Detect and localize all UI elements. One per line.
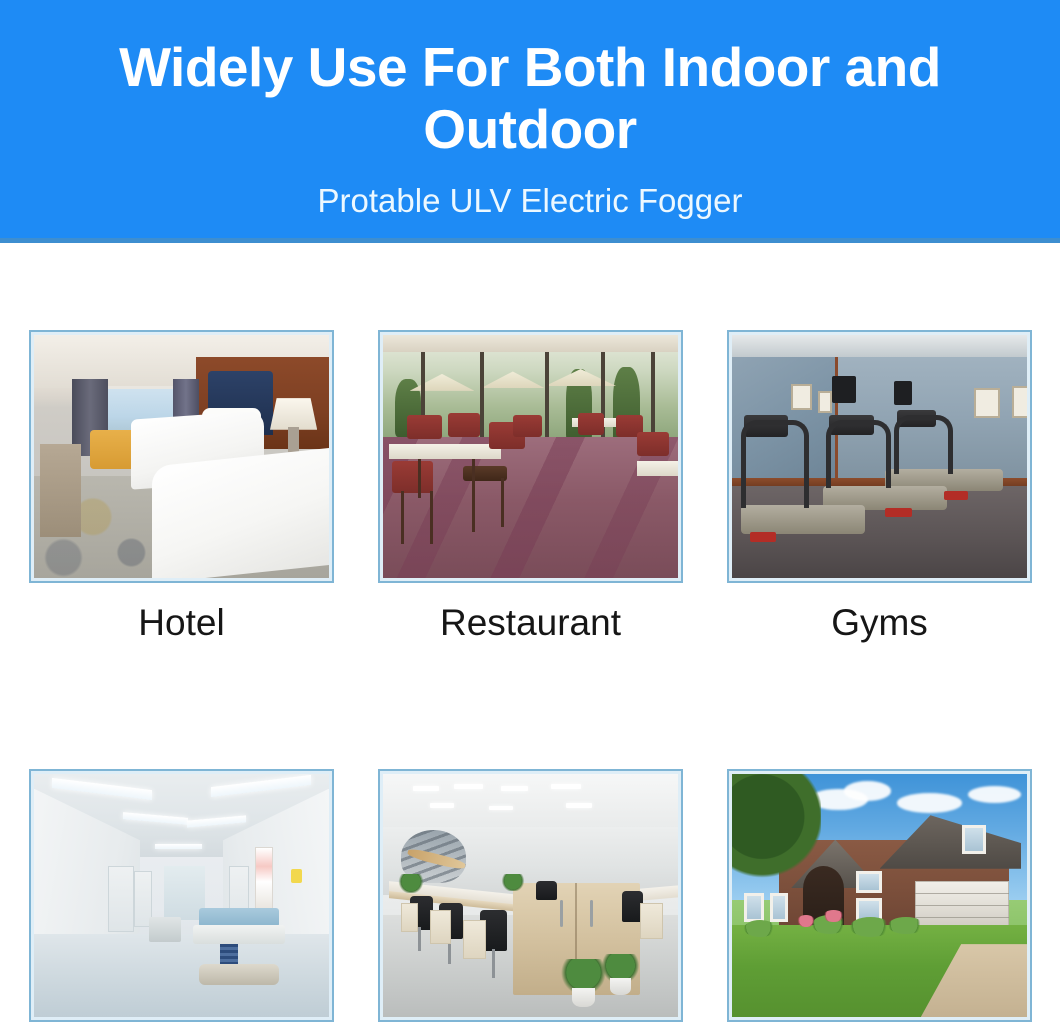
hospital-wall-poster	[255, 847, 273, 910]
office-chair-4	[536, 881, 557, 900]
gym-treadmill-arm-1	[741, 420, 809, 507]
garden-window-upper	[962, 825, 986, 854]
garden-flowers-2	[797, 915, 815, 927]
office-pedestal-2	[430, 910, 451, 944]
garden-shrub-4	[744, 920, 776, 937]
photo-frame-garden	[727, 769, 1032, 1022]
photo-frame-restaurant	[378, 330, 683, 583]
office-ceiling-light-1	[413, 786, 440, 791]
gym-brand-label-2	[885, 508, 912, 518]
garden-shrub-2	[850, 917, 891, 936]
office-ceiling-light-2	[454, 784, 484, 789]
garden-cloud-3	[897, 793, 962, 812]
office-cabinet-handle-2	[590, 900, 593, 927]
garden-cloud-2	[844, 781, 891, 800]
gym-ceiling	[732, 335, 1027, 357]
hospital-gurney-frame	[193, 925, 284, 944]
office-chair-post-1	[418, 927, 421, 951]
restaurant-chair-2	[448, 413, 480, 437]
hospital-gurney-base	[199, 964, 279, 986]
garden-tree	[732, 774, 821, 881]
restaurant-chair-4	[513, 415, 543, 437]
grid-item-gyms: Gyms	[727, 330, 1032, 645]
product-feature-page: Widely Use For Both Indoor and Outdoor P…	[0, 0, 1060, 1030]
gym-treadmill-deck-1	[741, 505, 865, 534]
office-plant-pot-1	[572, 988, 596, 1007]
hotel-lamp-shade	[270, 398, 317, 430]
hotel-lamp-base	[288, 427, 300, 451]
photo-garden-house	[732, 774, 1027, 1017]
office-ceiling-light-7	[566, 803, 593, 808]
office-chair-post-3	[492, 949, 495, 978]
office-ceiling-light-6	[489, 806, 513, 811]
restaurant-table-leg-1	[418, 459, 421, 498]
photo-office	[383, 774, 678, 1017]
restaurant-chair-1	[407, 415, 442, 439]
gym-picture-frame-3	[974, 388, 1001, 417]
gym-picture-frame-4	[1012, 386, 1027, 418]
office-pedestal-3	[463, 920, 487, 959]
hospital-floor	[34, 934, 329, 1017]
gym-tv-2	[894, 381, 912, 405]
garden-window-left-1	[744, 893, 765, 922]
gym-picture-frame-2	[818, 391, 833, 413]
restaurant-chair-leg-4	[501, 478, 504, 527]
office-ceiling-light-5	[430, 803, 454, 808]
restaurant-chair-leg-1	[401, 491, 404, 544]
office-plant-desk-1	[398, 874, 425, 893]
photo-gym	[732, 335, 1027, 578]
caption-hotel: Hotel	[29, 601, 334, 645]
restaurant-chair-6	[578, 413, 605, 435]
photo-frame-office	[378, 769, 683, 1022]
grid-item-restaurant: Restaurant	[378, 330, 683, 645]
garden-garage-line-3	[915, 917, 1009, 918]
office-ceiling-light-3	[501, 786, 528, 791]
photo-hotel-room	[34, 335, 329, 578]
gym-tv-1	[832, 376, 856, 403]
page-subtitle: Protable ULV Electric Fogger	[318, 182, 743, 220]
grid-item-garden: Garden	[727, 769, 1032, 1030]
photo-hospital-corridor	[34, 774, 329, 1017]
restaurant-ceiling	[383, 335, 678, 352]
hospital-cart	[149, 917, 181, 941]
hospital-light-far	[155, 844, 202, 849]
photo-frame-hospital	[29, 769, 334, 1022]
hospital-door-left-1	[108, 866, 135, 932]
grid-item-office: Office	[378, 769, 683, 1030]
gym-brand-label-1	[750, 532, 777, 542]
gym-picture-frame-1	[791, 384, 812, 411]
office-pedestal-1	[401, 903, 419, 932]
office-plant-pot-2	[610, 978, 631, 995]
photo-restaurant	[383, 335, 678, 578]
page-title: Widely Use For Both Indoor and Outdoor	[80, 36, 980, 160]
restaurant-table-right	[637, 461, 678, 476]
restaurant-chair-5	[392, 461, 433, 493]
caption-gyms: Gyms	[727, 601, 1032, 645]
restaurant-table-leg-2	[472, 459, 475, 493]
garden-garage-line-1	[915, 893, 1009, 894]
restaurant-chair-leg-2	[430, 491, 433, 544]
gym-treadmill-arm-2	[826, 420, 891, 488]
scene-grid: Hotel	[29, 330, 1032, 1030]
office-cabinet-handle-1	[560, 900, 563, 927]
garden-window-left-2	[770, 893, 788, 922]
gym-brand-label-3	[944, 491, 968, 501]
photo-frame-gyms	[727, 330, 1032, 583]
restaurant-chair-8	[637, 432, 669, 456]
caption-restaurant: Restaurant	[378, 601, 683, 645]
office-pedestal-4	[640, 903, 664, 939]
hospital-wall-lamp	[291, 869, 303, 884]
grid-item-hospital: Hospital	[29, 769, 334, 1030]
hotel-dresser	[40, 444, 81, 536]
hotel-bed-front	[152, 447, 329, 578]
garden-garage-line-2	[915, 905, 1009, 906]
grid-item-hotel: Hotel	[29, 330, 334, 645]
gym-treadmill-arm-3	[894, 415, 953, 473]
header-banner: Widely Use For Both Indoor and Outdoor P…	[0, 0, 1060, 243]
photo-frame-hotel	[29, 330, 334, 583]
office-plant-desk-2	[501, 874, 525, 891]
garden-window-mid-1	[856, 871, 883, 893]
office-ceiling-light-4	[551, 784, 581, 789]
restaurant-table-main	[389, 444, 501, 459]
